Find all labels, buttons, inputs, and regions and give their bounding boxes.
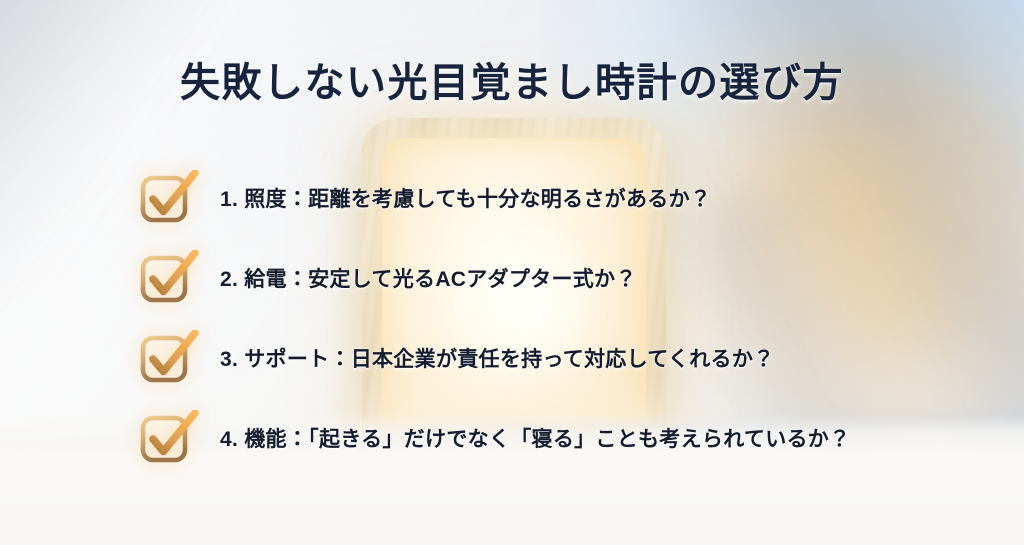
list-item-label: 2. 給電：安定して光るACアダプター式か？ [220, 263, 637, 293]
list-item: 1. 照度：距離を考慮しても十分な明るさがあるか？ [138, 158, 978, 238]
check-square-icon [138, 250, 200, 306]
check-square-icon [138, 410, 200, 466]
list-item: 3. サポート：日本企業が責任を持って対応してくれるか？ [138, 318, 978, 398]
list-item: 2. 給電：安定して光るACアダプター式か？ [138, 238, 978, 318]
list-item-label: 3. サポート：日本企業が責任を持って対応してくれるか？ [220, 343, 774, 373]
checklist: 1. 照度：距離を考慮しても十分な明るさがあるか？ 2. 給電：安定して光るAC… [138, 158, 978, 478]
check-square-icon [138, 330, 200, 386]
slide-canvas: 失敗しない光目覚まし時計の選び方 [0, 0, 1024, 545]
list-item-label: 4. 機能：「起きる」だけでなく「寝る」ことも考えられているか？ [220, 423, 850, 453]
page-title: 失敗しない光目覚まし時計の選び方 [0, 50, 1024, 108]
list-item-label: 1. 照度：距離を考慮しても十分な明るさがあるか？ [220, 183, 711, 213]
check-square-icon [138, 170, 200, 226]
list-item: 4. 機能：「起きる」だけでなく「寝る」ことも考えられているか？ [138, 398, 978, 478]
